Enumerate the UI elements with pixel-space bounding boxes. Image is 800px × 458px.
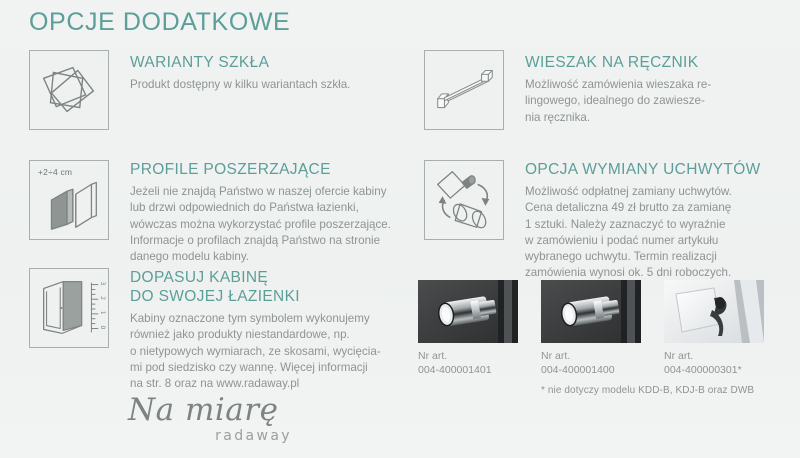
feature-title: WARIANTY SZKŁA [130, 53, 350, 72]
handle-swap-icon [424, 160, 504, 240]
feature-text: PROFILE POSZERZAJĄCE Jeżeli nie znajdą P… [130, 160, 391, 265]
product-item[interactable]: Nr art. 004-400001400 [541, 280, 641, 377]
extension-profile-icon: +2÷4 cm [29, 160, 109, 240]
feature-text: WIESZAK NA RĘCZNIK Możliwość zamówienia … [525, 50, 711, 126]
handle-photo-dark-2[interactable] [541, 280, 641, 343]
page-title: OPCJE DODATKOWE [29, 8, 290, 37]
product-item[interactable]: Nr art. 004-400001401 [418, 280, 518, 377]
feature-text: OPCJA WYMIANY UCHWYTÓW Możliwość odpłatn… [525, 160, 761, 282]
glass-panes-icon [29, 50, 109, 130]
feature-text: WARIANTY SZKŁA Produkt dostępny w kilku … [130, 50, 350, 93]
feature-title: OPCJA WYMIANY UCHWYTÓW [525, 160, 761, 179]
svg-text:3: 3 [99, 282, 105, 286]
logo-brand-text: radaway [215, 428, 292, 444]
handle-photo-dark-1[interactable] [418, 280, 518, 343]
feature-title: DOPASUJ KABINĘ DO SWOJEJ ŁAZIENKI [130, 268, 381, 306]
feature-body: Kabiny oznaczone tym symbolem wykonujemy… [130, 311, 381, 392]
shower-cabin-ruler-icon: 3 2 1 0 [29, 268, 109, 348]
feature-title: PROFILE POSZERZAJĄCE [130, 160, 391, 179]
feature-glass-variants: WARIANTY SZKŁA Produkt dostępny w kilku … [29, 50, 389, 130]
feature-custom-cabin: 3 2 1 0 DOPASUJ KABINĘ DO SWOJEJ ŁAZIENK… [29, 268, 404, 392]
products-footnote: * nie dotyczy modelu KDD-B, KDJ-B oraz D… [541, 385, 754, 396]
page-root: OPCJE DODATKOWE WARIANTY SZKŁA Produkt d… [0, 0, 800, 458]
feature-handle-swap: OPCJA WYMIANY UCHWYTÓW Możliwość odpłatn… [424, 160, 784, 282]
feature-body: Możliwość zamówienia wieszaka re- lingow… [525, 77, 711, 126]
handle-photo-light-3[interactable] [664, 280, 764, 343]
feature-extension-profiles: +2÷4 cm PROFILE POSZERZAJĄCE Jeżeli nie … [29, 160, 404, 265]
feature-towel-rail: WIESZAK NA RĘCZNIK Możliwość zamówienia … [424, 50, 779, 130]
svg-text:1: 1 [99, 311, 105, 315]
logo-script-text: Na miarę [128, 392, 308, 428]
na-miare-logo: Na miarę radaway [128, 392, 308, 452]
feature-body: Jeżeli nie znajdą Państwo w naszej oferc… [130, 184, 391, 265]
feature-body: Możliwość odpłatnej zamiany uchwytów. Ce… [525, 184, 761, 282]
icon-caption: +2÷4 cm [38, 167, 72, 177]
product-article-number: Nr art. 004-400001400 [541, 350, 641, 377]
svg-text:2: 2 [99, 296, 105, 300]
product-list: Nr art. 004-400001401 [418, 280, 764, 377]
product-item[interactable]: Nr art. 004-400000301* [664, 280, 764, 377]
towel-rail-icon [424, 50, 504, 130]
feature-body: Produkt dostępny w kilku wariantach szkł… [130, 77, 350, 93]
svg-text:0: 0 [99, 326, 105, 330]
product-article-number: Nr art. 004-400000301* [664, 350, 764, 377]
product-article-number: Nr art. 004-400001401 [418, 350, 518, 377]
feature-text: DOPASUJ KABINĘ DO SWOJEJ ŁAZIENKI Kabiny… [130, 268, 381, 392]
feature-title: WIESZAK NA RĘCZNIK [525, 53, 711, 72]
